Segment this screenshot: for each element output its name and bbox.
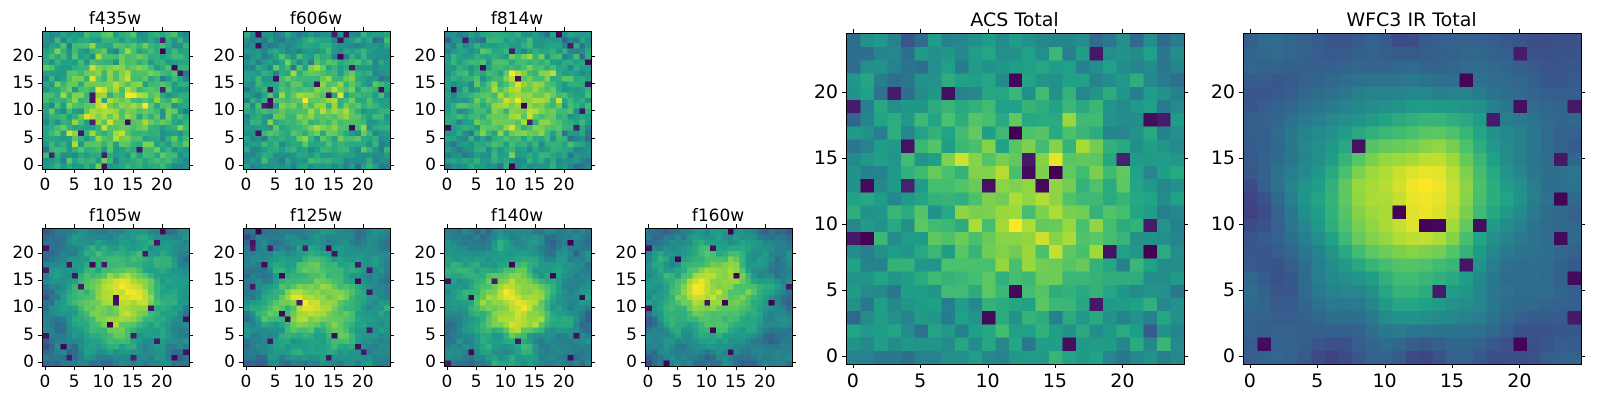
xtick-top-f105w-2 xyxy=(103,224,104,228)
xtick-top-f140w-2 xyxy=(505,224,506,228)
yticklabel-f160w-1: 5 xyxy=(575,325,637,345)
xtick-f160w-4 xyxy=(765,366,766,370)
xtick-top-acs-total-0 xyxy=(853,29,854,33)
xticklabel-acs-total-3: 15 xyxy=(1043,370,1067,392)
xtick-top-f125w-3 xyxy=(334,224,335,228)
xticklabel-f160w-1: 5 xyxy=(672,372,683,392)
yticklabel-f105w-3: 15 xyxy=(0,270,34,290)
ytick-f140w-4 xyxy=(440,253,444,254)
ytick-right-f160w-4 xyxy=(792,253,796,254)
panel-title-acs-total: ACS Total xyxy=(846,9,1183,31)
ytick-acs-total-1 xyxy=(842,290,846,291)
ytick-right-wfc3-ir-total-0 xyxy=(1581,356,1585,357)
xtick-top-wfc3-ir-total-1 xyxy=(1317,29,1318,33)
heatmap-f125w xyxy=(244,229,390,366)
xtick-f105w-2 xyxy=(103,366,104,370)
xtick-f125w-1 xyxy=(275,366,276,370)
xtick-f105w-4 xyxy=(162,366,163,370)
ytick-right-f814w-1 xyxy=(591,138,595,139)
axes-f140w xyxy=(444,228,592,367)
figure-canvas: f435w0510152005101520f606w05101520051015… xyxy=(0,0,1600,400)
yticklabel-f435w-2: 10 xyxy=(0,100,34,120)
heatmap-f105w xyxy=(43,229,189,366)
xtick-f160w-1 xyxy=(677,366,678,370)
xticklabel-f105w-0: 0 xyxy=(39,372,50,392)
xticklabel-f140w-1: 5 xyxy=(471,372,482,392)
xticklabel-wfc3-ir-total-2: 10 xyxy=(1372,370,1396,392)
ytick-f160w-2 xyxy=(641,307,645,308)
xtick-top-f125w-2 xyxy=(304,224,305,228)
xtick-f140w-1 xyxy=(476,366,477,370)
heatmap-f160w xyxy=(646,229,792,366)
xtick-top-acs-total-1 xyxy=(920,29,921,33)
xtick-f160w-3 xyxy=(736,366,737,370)
yticklabel-wfc3-ir-total-3: 15 xyxy=(1173,147,1235,169)
ytick-f105w-3 xyxy=(38,280,42,281)
panel-f160w: f160w0510152005101520 xyxy=(645,0,791,400)
xtick-top-wfc3-ir-total-2 xyxy=(1385,29,1386,33)
panel-title-f105w: f105w xyxy=(42,206,188,226)
panel-f140w: f140w0510152005101520 xyxy=(444,0,590,400)
xticklabel-acs-total-1: 5 xyxy=(914,370,926,392)
xtick-f125w-0 xyxy=(246,366,247,370)
axes-f160w xyxy=(645,228,793,367)
yticklabel-wfc3-ir-total-2: 10 xyxy=(1173,213,1235,235)
axes-f125w xyxy=(243,228,391,367)
xtick-top-f140w-0 xyxy=(447,224,448,228)
xtick-f105w-0 xyxy=(45,366,46,370)
ytick-wfc3-ir-total-0 xyxy=(1239,356,1243,357)
xtick-top-f105w-3 xyxy=(133,224,134,228)
ytick-wfc3-ir-total-3 xyxy=(1239,158,1243,159)
xticklabel-f160w-3: 15 xyxy=(725,372,747,392)
yticklabel-f125w-1: 5 xyxy=(173,325,235,345)
yticklabel-f140w-1: 5 xyxy=(374,325,436,345)
xtick-top-f160w-4 xyxy=(765,224,766,228)
xticklabel-f125w-1: 5 xyxy=(270,372,281,392)
yticklabel-f140w-0: 0 xyxy=(374,352,436,372)
heatmap-f140w xyxy=(445,229,591,366)
ytick-right-f160w-1 xyxy=(792,335,796,336)
yticklabel-f435w-0: 0 xyxy=(0,155,34,175)
xtick-f105w-1 xyxy=(74,366,75,370)
xticklabel-f160w-0: 0 xyxy=(642,372,653,392)
xticklabel-wfc3-ir-total-3: 15 xyxy=(1440,370,1464,392)
yticklabel-f140w-2: 10 xyxy=(374,297,436,317)
ytick-wfc3-ir-total-4 xyxy=(1239,92,1243,93)
xtick-wfc3-ir-total-3 xyxy=(1452,364,1453,368)
ytick-f125w-2 xyxy=(239,307,243,308)
xtick-top-f105w-1 xyxy=(74,224,75,228)
xtick-top-f125w-0 xyxy=(246,224,247,228)
ytick-right-wfc3-ir-total-3 xyxy=(1581,158,1585,159)
panel-wfc3-ir-total: WFC3 IR Total0510152005101520 xyxy=(1243,0,1580,400)
xtick-top-f160w-0 xyxy=(648,224,649,228)
yticklabel-f435w-4: 20 xyxy=(0,46,34,66)
ytick-f140w-1 xyxy=(440,335,444,336)
xtick-top-f160w-1 xyxy=(677,224,678,228)
xtick-f140w-3 xyxy=(535,366,536,370)
yticklabel-f160w-2: 10 xyxy=(575,297,637,317)
xtick-wfc3-ir-total-0 xyxy=(1250,364,1251,368)
xtick-f160w-2 xyxy=(706,366,707,370)
xticklabel-f140w-2: 10 xyxy=(494,372,516,392)
xtick-acs-total-3 xyxy=(1055,364,1056,368)
xtick-top-f105w-4 xyxy=(162,224,163,228)
yticklabel-f105w-4: 20 xyxy=(0,243,34,263)
xticklabel-f125w-3: 15 xyxy=(323,372,345,392)
panel-title-f140w: f140w xyxy=(444,206,590,226)
xtick-top-wfc3-ir-total-0 xyxy=(1250,29,1251,33)
yticklabel-acs-total-1: 5 xyxy=(776,279,838,301)
xticklabel-acs-total-2: 10 xyxy=(975,370,999,392)
xticklabel-f125w-4: 20 xyxy=(352,372,374,392)
yticklabel-f435w-3: 15 xyxy=(0,73,34,93)
ytick-f125w-0 xyxy=(239,362,243,363)
xticklabel-acs-total-4: 20 xyxy=(1110,370,1134,392)
yticklabel-acs-total-3: 15 xyxy=(776,147,838,169)
ytick-acs-total-0 xyxy=(842,356,846,357)
ytick-f160w-4 xyxy=(641,253,645,254)
axes-wfc3-ir-total xyxy=(1243,33,1582,365)
ytick-acs-total-3 xyxy=(842,158,846,159)
xtick-f160w-0 xyxy=(648,366,649,370)
xtick-acs-total-4 xyxy=(1122,364,1123,368)
yticklabel-f125w-2: 10 xyxy=(173,297,235,317)
xtick-top-f125w-4 xyxy=(363,224,364,228)
axes-f105w xyxy=(42,228,190,367)
yticklabel-f435w-1: 5 xyxy=(0,128,34,148)
ytick-f160w-1 xyxy=(641,335,645,336)
xtick-acs-total-0 xyxy=(853,364,854,368)
xticklabel-wfc3-ir-total-0: 0 xyxy=(1244,370,1256,392)
ytick-right-f160w-2 xyxy=(792,307,796,308)
xticklabel-f105w-1: 5 xyxy=(69,372,80,392)
xtick-f125w-4 xyxy=(363,366,364,370)
xticklabel-f140w-0: 0 xyxy=(441,372,452,392)
yticklabel-f160w-3: 15 xyxy=(575,270,637,290)
yticklabel-acs-total-4: 20 xyxy=(776,81,838,103)
xtick-top-f160w-2 xyxy=(706,224,707,228)
xticklabel-wfc3-ir-total-4: 20 xyxy=(1507,370,1531,392)
xticklabel-acs-total-0: 0 xyxy=(847,370,859,392)
ytick-wfc3-ir-total-1 xyxy=(1239,290,1243,291)
ytick-f160w-3 xyxy=(641,280,645,281)
yticklabel-f125w-0: 0 xyxy=(173,352,235,372)
xtick-top-acs-total-2 xyxy=(988,29,989,33)
xtick-top-f160w-3 xyxy=(736,224,737,228)
xtick-f125w-2 xyxy=(304,366,305,370)
xtick-top-wfc3-ir-total-4 xyxy=(1519,29,1520,33)
ytick-f105w-2 xyxy=(38,307,42,308)
heatmap-wfc3-ir-total xyxy=(1244,34,1581,364)
xticklabel-f160w-2: 10 xyxy=(695,372,717,392)
ytick-right-f814w-4 xyxy=(591,56,595,57)
ytick-right-f814w-0 xyxy=(591,165,595,166)
ytick-right-wfc3-ir-total-4 xyxy=(1581,92,1585,93)
xticklabel-f125w-0: 0 xyxy=(240,372,251,392)
xticklabel-f105w-2: 10 xyxy=(92,372,114,392)
yticklabel-f140w-4: 20 xyxy=(374,243,436,263)
ytick-f105w-1 xyxy=(38,335,42,336)
yticklabel-acs-total-0: 0 xyxy=(776,345,838,367)
panel-f125w: f125w0510152005101520 xyxy=(243,0,389,400)
yticklabel-f105w-1: 5 xyxy=(0,325,34,345)
yticklabel-wfc3-ir-total-4: 20 xyxy=(1173,81,1235,103)
yticklabel-wfc3-ir-total-1: 5 xyxy=(1173,279,1235,301)
yticklabel-f125w-3: 15 xyxy=(173,270,235,290)
xticklabel-f160w-4: 20 xyxy=(754,372,776,392)
yticklabel-f125w-4: 20 xyxy=(173,243,235,263)
yticklabel-f140w-3: 15 xyxy=(374,270,436,290)
xticklabel-f105w-4: 20 xyxy=(151,372,173,392)
ytick-f125w-3 xyxy=(239,280,243,281)
xtick-top-f140w-4 xyxy=(564,224,565,228)
panel-title-f125w: f125w xyxy=(243,206,389,226)
xtick-f140w-2 xyxy=(505,366,506,370)
ytick-acs-total-4 xyxy=(842,92,846,93)
xtick-wfc3-ir-total-2 xyxy=(1385,364,1386,368)
yticklabel-f105w-0: 0 xyxy=(0,352,34,372)
xtick-top-f105w-0 xyxy=(45,224,46,228)
xtick-wfc3-ir-total-1 xyxy=(1317,364,1318,368)
panel-title-wfc3-ir-total: WFC3 IR Total xyxy=(1243,9,1580,31)
xtick-f140w-4 xyxy=(564,366,565,370)
xtick-top-f140w-1 xyxy=(476,224,477,228)
xtick-wfc3-ir-total-4 xyxy=(1519,364,1520,368)
xtick-top-f125w-1 xyxy=(275,224,276,228)
xtick-f105w-3 xyxy=(133,366,134,370)
ytick-right-f814w-2 xyxy=(591,110,595,111)
ytick-right-f814w-3 xyxy=(591,83,595,84)
xtick-top-acs-total-3 xyxy=(1055,29,1056,33)
xticklabel-f125w-2: 10 xyxy=(293,372,315,392)
ytick-f140w-2 xyxy=(440,307,444,308)
ytick-f125w-4 xyxy=(239,253,243,254)
ytick-f105w-0 xyxy=(38,362,42,363)
yticklabel-f160w-4: 20 xyxy=(575,243,637,263)
xtick-f140w-0 xyxy=(447,366,448,370)
ytick-f105w-4 xyxy=(38,253,42,254)
ytick-f160w-0 xyxy=(641,362,645,363)
ytick-right-wfc3-ir-total-1 xyxy=(1581,290,1585,291)
yticklabel-f160w-0: 0 xyxy=(575,352,637,372)
xticklabel-f140w-4: 20 xyxy=(553,372,575,392)
heatmap-acs-total xyxy=(847,34,1184,364)
yticklabel-f105w-2: 10 xyxy=(0,297,34,317)
ytick-f125w-1 xyxy=(239,335,243,336)
yticklabel-wfc3-ir-total-0: 0 xyxy=(1173,345,1235,367)
ytick-acs-total-2 xyxy=(842,224,846,225)
axes-acs-total xyxy=(846,33,1185,365)
xtick-top-acs-total-4 xyxy=(1122,29,1123,33)
ytick-wfc3-ir-total-2 xyxy=(1239,224,1243,225)
xticklabel-wfc3-ir-total-1: 5 xyxy=(1311,370,1323,392)
xtick-acs-total-2 xyxy=(988,364,989,368)
ytick-f140w-0 xyxy=(440,362,444,363)
xtick-acs-total-1 xyxy=(920,364,921,368)
panel-title-f160w: f160w xyxy=(645,206,791,226)
xticklabel-f105w-3: 15 xyxy=(122,372,144,392)
xticklabel-f140w-3: 15 xyxy=(524,372,546,392)
xtick-f125w-3 xyxy=(334,366,335,370)
panel-acs-total: ACS Total0510152005101520 xyxy=(846,0,1183,400)
panel-f105w: f105w0510152005101520 xyxy=(42,0,188,400)
yticklabel-acs-total-2: 10 xyxy=(776,213,838,235)
ytick-right-wfc3-ir-total-2 xyxy=(1581,224,1585,225)
xtick-top-f140w-3 xyxy=(535,224,536,228)
ytick-f140w-3 xyxy=(440,280,444,281)
xtick-top-wfc3-ir-total-3 xyxy=(1452,29,1453,33)
